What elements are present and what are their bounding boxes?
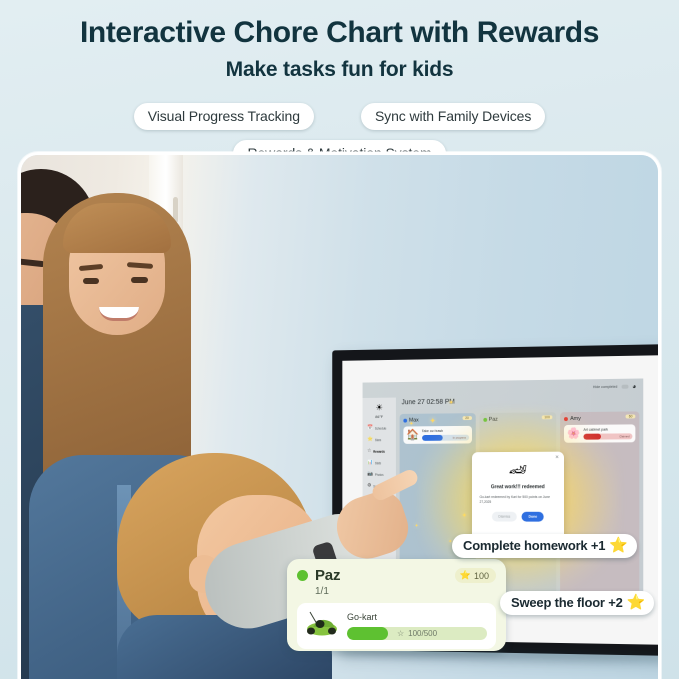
star-icon: ⭐ (609, 538, 627, 553)
go-kart-icon (305, 611, 339, 642)
star-icon: ⭐ (627, 595, 645, 610)
callout-label: Complete homework +1 (463, 538, 605, 553)
chart-icon: 📊 (367, 460, 373, 465)
reward-task-title: Go-kart (347, 612, 487, 622)
header: Interactive Chore Chart with Rewards Mak… (0, 0, 679, 82)
feature-pill-visual-progress[interactable]: Visual Progress Tracking (134, 103, 314, 130)
completion-fraction: 1/1 (315, 586, 496, 597)
modal-title: Great work!!! redeemed (480, 484, 557, 490)
callout-complete-homework[interactable]: Complete homework +1 ⭐ (452, 534, 637, 558)
mother-eye-right (131, 277, 148, 283)
dismiss-button[interactable]: Dismiss (492, 511, 517, 521)
mother-hairline (63, 203, 171, 253)
reward-progress-bar: ☆ 100/500 (347, 627, 487, 640)
sidebar-item-label: Photos (375, 472, 384, 476)
gear-icon: ⚙ (367, 484, 371, 489)
sidebar-item-label: Stars (375, 438, 381, 442)
trophy-icon: ☆ (367, 449, 371, 454)
reward-progress-label: 100/500 (408, 629, 437, 638)
status-dot (403, 419, 407, 423)
feature-pill-sync-devices[interactable]: Sync with Family Devices (361, 103, 545, 130)
temperature-label: 86°F (375, 414, 383, 419)
callout-sweep-floor[interactable]: Sweep the floor +2 ⭐ (500, 591, 654, 615)
column-name: Max (409, 418, 419, 424)
star-icon: ⭐ (460, 570, 471, 581)
star-icon: ⭐ (367, 437, 373, 442)
hide-completed-toggle[interactable] (621, 385, 628, 389)
reward-card-name: Paz (315, 567, 340, 584)
page-subtitle: Make tasks fun for kids (0, 58, 679, 82)
date-time-label: June 27 02:58 PM (402, 399, 455, 406)
status-dot (297, 570, 308, 581)
feature-pill-row-top: Visual Progress Tracking Sync with Famil… (0, 103, 679, 130)
photo-icon: 📷 (367, 472, 373, 477)
sidebar-item-label: Schedule (375, 426, 387, 430)
sidebar-item-label: Rewards (373, 449, 385, 453)
modal-actions: Dismiss Done (480, 511, 557, 521)
calendar-icon: 📅 (367, 426, 373, 431)
sidebar-item-label: Stats (375, 461, 381, 465)
sidebar-item-schedule[interactable]: 📅 Schedule (364, 426, 394, 431)
modal-description: Go-kart redeemed by Kari for 500 points … (480, 495, 557, 505)
star-outline-icon: ☆ (397, 629, 404, 638)
sun-icon: ☀ (375, 404, 382, 413)
page-title: Interactive Chore Chart with Rewards (0, 14, 679, 52)
close-icon[interactable]: ✕ (555, 454, 559, 460)
go-kart-icon: 🏎 (480, 462, 557, 477)
sidebar-item-stats[interactable]: 📊 Stats (364, 460, 394, 465)
sidebar-item-rewards[interactable]: ☆ Rewards (364, 449, 394, 454)
reward-task-details: Go-kart ☆ 100/500 (347, 612, 487, 640)
task-thumbnail-icon: 🏠 (406, 430, 419, 441)
sidebar-item-stars[interactable]: ⭐ Stars (364, 437, 394, 442)
done-button[interactable]: Done (522, 512, 544, 522)
reward-card-header: Paz ⭐ 100 (297, 567, 496, 584)
reward-task-row[interactable]: Go-kart ☆ 100/500 (297, 603, 496, 649)
points-value: 100 (474, 571, 489, 581)
reward-progress-label-wrap: ☆ 100/500 (347, 627, 487, 640)
task-status-chip: Claimed (619, 434, 629, 438)
points-badge: 60 (626, 414, 636, 418)
mother-eye-left (83, 278, 99, 284)
promo-page: Interactive Chore Chart with Rewards Mak… (0, 0, 679, 679)
points-badge: ⭐ 100 (455, 568, 496, 583)
sidebar-item-photos[interactable]: 📷 Photos (364, 472, 394, 477)
hide-completed-label: Hide completed (593, 385, 617, 389)
wifi-icon: ◕ (632, 383, 636, 390)
callout-label: Sweep the floor +2 (511, 595, 623, 610)
paz-reward-card[interactable]: Paz ⭐ 100 1/1 Go-kart (287, 559, 506, 651)
